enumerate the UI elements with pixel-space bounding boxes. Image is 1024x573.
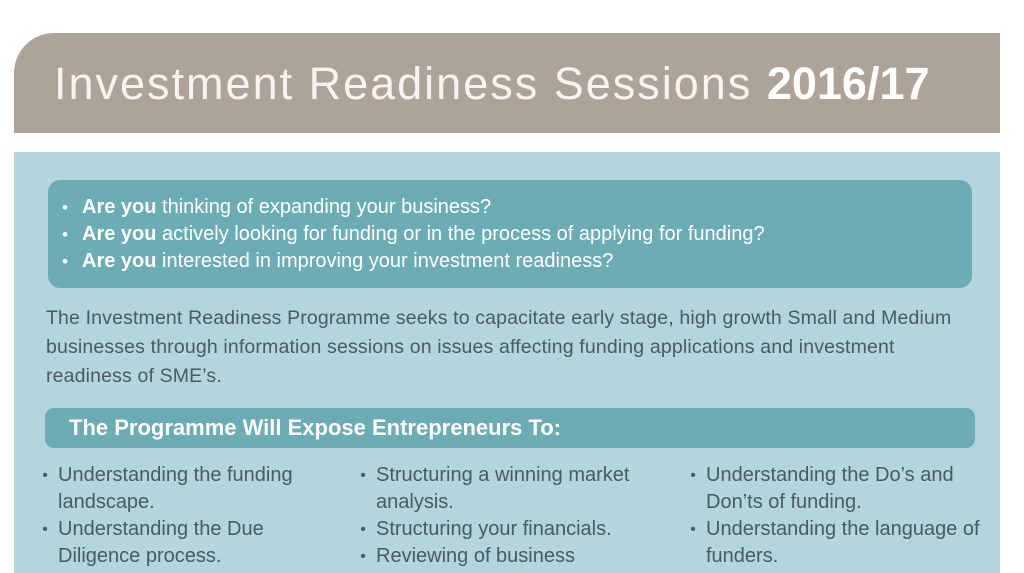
expose-column-3: • Understanding the Do’s and Don’ts of f…: [680, 462, 1000, 570]
bullet-icon: •: [350, 543, 376, 570]
question-text: Are you thinking of expanding your busin…: [82, 194, 491, 221]
expose-columns: • Understanding the funding landscape. •…: [32, 462, 1000, 570]
bullet-icon: •: [350, 516, 376, 543]
question-rest: actively looking for funding or in the p…: [156, 223, 764, 245]
list-item: • Structuring your financials.: [350, 516, 680, 543]
section-banner-heading: The Programme Will Expose Entrepreneurs …: [69, 415, 561, 441]
question-rest: interested in improving your investment …: [156, 250, 613, 272]
bullet-icon: •: [32, 516, 58, 543]
list-item: • Are you actively looking for funding o…: [48, 221, 972, 248]
bullet-icon: •: [48, 221, 82, 248]
expose-column-1: • Understanding the funding landscape. •…: [32, 462, 350, 570]
intro-paragraph: The Investment Readiness Programme seeks…: [46, 304, 986, 391]
bullet-list: • Understanding the funding landscape. •…: [32, 462, 344, 570]
section-banner: The Programme Will Expose Entrepreneurs …: [45, 408, 975, 448]
slide-canvas: Investment Readiness Sessions 2016/17 • …: [0, 0, 1024, 573]
list-item: • Understanding the funding landscape.: [32, 462, 344, 516]
expose-column-2: • Structuring a winning market analysis.…: [350, 462, 680, 570]
page-title-year: 2016/17: [767, 58, 930, 109]
question-lead: Are you: [82, 250, 156, 272]
bullet-icon: •: [48, 248, 82, 275]
body-panel: • Are you thinking of expanding your bus…: [14, 152, 1000, 573]
list-item-text: Understanding the funding landscape.: [58, 462, 344, 516]
list-item: • Understanding the language of funders.: [680, 516, 1000, 570]
question-lead: Are you: [82, 196, 156, 218]
bullet-icon: •: [680, 462, 706, 489]
bullet-icon: •: [32, 462, 58, 489]
list-item-text: Structuring your financials.: [376, 516, 680, 543]
list-item: • Understanding the Do’s and Don’ts of f…: [680, 462, 1000, 516]
bullet-icon: •: [350, 462, 376, 489]
list-item: • Are you thinking of expanding your bus…: [48, 194, 972, 221]
list-item: • Reviewing of business: [350, 543, 680, 570]
list-item-text: Understanding the language of funders.: [706, 516, 1000, 570]
list-item: • Understanding the Due Diligence proces…: [32, 516, 344, 570]
bullet-list: • Understanding the Do’s and Don’ts of f…: [680, 462, 1000, 570]
list-item-text: Understanding the Due Diligence process.: [58, 516, 344, 570]
bullet-icon: •: [48, 194, 82, 221]
list-item-text: Understanding the Do’s and Don’ts of fun…: [706, 462, 1000, 516]
question-list: • Are you thinking of expanding your bus…: [48, 194, 972, 275]
question-lead: Are you: [82, 223, 156, 245]
question-text: Are you actively looking for funding or …: [82, 221, 765, 248]
question-callout-box: • Are you thinking of expanding your bus…: [48, 180, 972, 288]
list-item: • Are you interested in improving your i…: [48, 248, 972, 275]
list-item-text: Structuring a winning market analysis.: [376, 462, 680, 516]
bullet-icon: •: [680, 516, 706, 543]
page-title-main: Investment Readiness Sessions: [54, 58, 767, 109]
header-bar: Investment Readiness Sessions 2016/17: [14, 33, 1000, 133]
list-item: • Structuring a winning market analysis.: [350, 462, 680, 516]
bullet-list: • Structuring a winning market analysis.…: [350, 462, 680, 570]
question-text: Are you interested in improving your inv…: [82, 248, 613, 275]
question-rest: thinking of expanding your business?: [156, 196, 491, 218]
list-item-text: Reviewing of business: [376, 543, 680, 570]
page-title: Investment Readiness Sessions 2016/17: [54, 61, 930, 106]
